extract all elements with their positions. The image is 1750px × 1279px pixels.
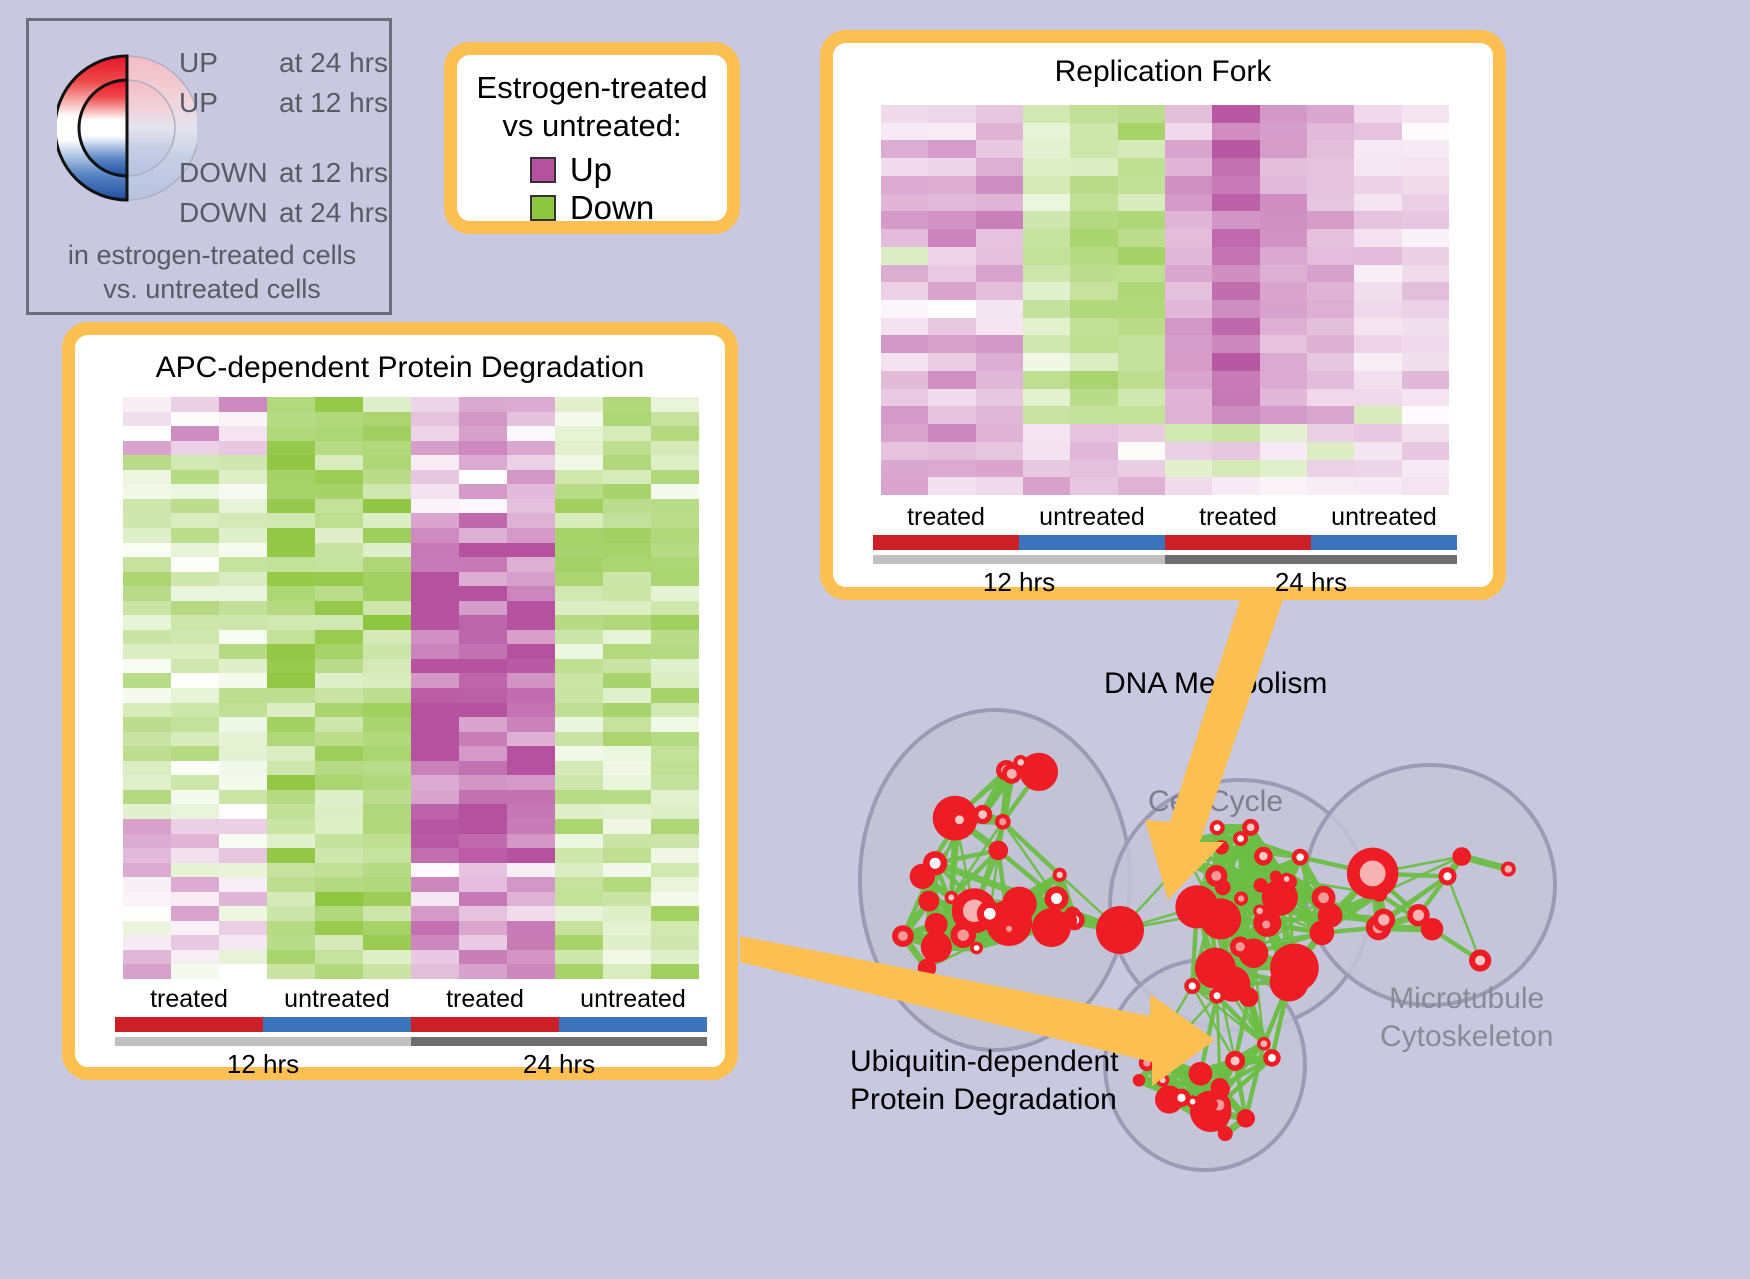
network-node[interactable] bbox=[1214, 840, 1228, 854]
panel-title-replication-fork: Replication Fork bbox=[833, 43, 1493, 89]
network-node-core bbox=[1007, 769, 1017, 779]
network-node-core bbox=[1211, 871, 1221, 881]
timepoint-label: 12 hrs bbox=[115, 1049, 411, 1080]
condition-labels: treateduntreatedtreateduntreated bbox=[115, 985, 707, 1014]
network-node-core bbox=[1213, 992, 1220, 999]
network-node[interactable] bbox=[1205, 906, 1219, 920]
network-node[interactable] bbox=[1253, 878, 1267, 892]
legend-title-line-2: vs untreated: bbox=[457, 107, 727, 145]
network-node[interactable] bbox=[1205, 1098, 1218, 1111]
label-line-2: Protein Degradation bbox=[850, 1081, 1119, 1119]
network-node-core bbox=[978, 810, 987, 819]
cluster-label-ubiquitin-degradation: Ubiquitin-dependent Protein Degradation bbox=[850, 1043, 1119, 1118]
timepoint-label: 24 hrs bbox=[1165, 567, 1457, 598]
label-line-2: Cytoskeleton bbox=[1380, 1018, 1553, 1056]
timepoint-bar bbox=[115, 1037, 411, 1046]
network-node-core bbox=[1179, 855, 1189, 865]
condition-color-bars bbox=[115, 1017, 707, 1032]
time-label: at 24 hrs bbox=[279, 197, 388, 229]
network-node[interactable] bbox=[1059, 911, 1077, 929]
network-node-core bbox=[957, 929, 968, 940]
network-node-core bbox=[1051, 893, 1062, 904]
network-node[interactable] bbox=[925, 913, 948, 936]
condition-bar bbox=[263, 1017, 411, 1032]
network-node[interactable] bbox=[1133, 1074, 1146, 1087]
network-node-core bbox=[1247, 824, 1255, 832]
network-node-core bbox=[984, 908, 996, 920]
condition-label: untreated bbox=[559, 985, 707, 1014]
network-node-core bbox=[1378, 914, 1389, 925]
network-node[interactable] bbox=[918, 959, 937, 978]
condition-label: untreated bbox=[263, 985, 411, 1014]
network-node[interactable] bbox=[1218, 1126, 1233, 1141]
network-node[interactable] bbox=[1211, 1080, 1230, 1099]
colorwheel-legend-box: UP at 24 hrs UP at 12 hrs DOWN at 12 hrs… bbox=[26, 18, 392, 315]
timepoint-labels: 12 hrs24 hrs bbox=[115, 1049, 707, 1080]
direction-label: DOWN bbox=[179, 197, 279, 229]
caption-line-2: vs. untreated cells bbox=[29, 273, 395, 307]
time-label: at 12 hrs bbox=[279, 157, 388, 189]
up-label: Up bbox=[570, 151, 612, 189]
network-node[interactable] bbox=[1150, 1049, 1169, 1068]
label-line-1: Ubiquitin-dependent bbox=[850, 1043, 1119, 1081]
panel-title-apc: APC-dependent Protein Degradation bbox=[75, 335, 725, 385]
network-node-core bbox=[948, 895, 954, 901]
network-node[interactable] bbox=[1270, 944, 1319, 993]
condition-label: treated bbox=[1165, 503, 1311, 532]
network-node-core bbox=[1296, 853, 1304, 861]
legend-title-line-1: Estrogen-treated bbox=[457, 69, 727, 107]
condition-label: treated bbox=[115, 985, 263, 1014]
network-node-core bbox=[1238, 895, 1244, 901]
colorwheel-row: UP at 24 hrs bbox=[179, 43, 394, 83]
cluster-label-microtubule-cytoskeleton: Microtubule Cytoskeleton bbox=[1380, 980, 1553, 1055]
condition-bar bbox=[873, 535, 1019, 550]
network-node-core bbox=[1189, 982, 1196, 989]
protein-interaction-network bbox=[790, 620, 1750, 1279]
network-node-core bbox=[1256, 908, 1262, 914]
network-node-core bbox=[1318, 892, 1329, 903]
network-node-core bbox=[1259, 852, 1267, 860]
expression-legend-card: Estrogen-treated vs untreated: Up Down bbox=[444, 42, 740, 234]
apc-degradation-panel: APC-dependent Protein Degradation treate… bbox=[62, 322, 738, 1080]
timepoint-bar bbox=[411, 1037, 707, 1046]
timepoint-label: 24 hrs bbox=[411, 1049, 707, 1080]
network-node-core bbox=[1413, 910, 1424, 921]
network-node-core bbox=[1160, 1077, 1166, 1083]
network-node[interactable] bbox=[1270, 871, 1282, 883]
direction-label: UP bbox=[179, 47, 279, 79]
condition-color-bars bbox=[873, 535, 1457, 550]
legend-item-up: Up bbox=[530, 151, 654, 189]
heatmap-apc-degradation bbox=[123, 397, 699, 979]
legend-item-down: Down bbox=[530, 189, 654, 227]
network-node[interactable] bbox=[1237, 1109, 1255, 1127]
colorwheel-graphic bbox=[57, 43, 197, 215]
network-node[interactable] bbox=[1096, 906, 1144, 954]
timepoint-color-bars bbox=[115, 1037, 707, 1046]
network-node-core bbox=[1214, 824, 1221, 831]
spacer bbox=[179, 123, 394, 153]
network-node-core bbox=[974, 945, 980, 951]
timepoint-bar bbox=[873, 555, 1165, 564]
cluster-label-cell-cycle: Cell Cycle bbox=[1148, 785, 1283, 819]
network-node[interactable] bbox=[1372, 886, 1387, 901]
colorwheel-row: UP at 12 hrs bbox=[179, 83, 394, 123]
network-node-core bbox=[1006, 926, 1012, 932]
network-node[interactable] bbox=[910, 864, 935, 889]
condition-label: treated bbox=[873, 503, 1019, 532]
condition-bar bbox=[115, 1017, 263, 1032]
condition-bar bbox=[559, 1017, 707, 1032]
network-node-core bbox=[1360, 861, 1386, 887]
network-node[interactable] bbox=[921, 931, 952, 962]
condition-bar bbox=[1165, 535, 1311, 550]
network-node-core bbox=[1475, 955, 1485, 965]
network-node[interactable] bbox=[1309, 920, 1334, 945]
network-node[interactable] bbox=[1421, 918, 1443, 940]
timepoint-bar bbox=[1165, 555, 1457, 564]
condition-bar bbox=[1311, 535, 1457, 550]
network-node-core bbox=[1017, 759, 1024, 766]
network-node-core bbox=[1177, 1094, 1185, 1102]
network-node-core bbox=[1143, 1059, 1150, 1066]
network-node-core bbox=[1237, 835, 1244, 842]
network-node-core bbox=[898, 931, 908, 941]
direction-label: UP bbox=[179, 87, 279, 119]
colorwheel-row: DOWN at 12 hrs bbox=[179, 153, 394, 193]
network-node-core bbox=[955, 815, 964, 824]
network-node-core bbox=[1262, 921, 1270, 929]
network-node-core bbox=[1260, 1040, 1267, 1047]
colorwheel-legend-rows: UP at 24 hrs UP at 12 hrs DOWN at 12 hrs… bbox=[179, 43, 394, 233]
condition-label: untreated bbox=[1311, 503, 1457, 532]
up-color-swatch bbox=[530, 157, 556, 183]
down-label: Down bbox=[570, 189, 654, 227]
condition-label: untreated bbox=[1019, 503, 1165, 532]
cluster-label-dna-metabolism: DNA Metabolism bbox=[1104, 667, 1327, 701]
network-node[interactable] bbox=[918, 891, 939, 912]
down-color-swatch bbox=[530, 195, 556, 221]
axis-apc-degradation: treateduntreatedtreateduntreated 12 hrs2… bbox=[115, 985, 707, 1080]
network-node-core bbox=[1175, 840, 1181, 846]
network-node-core bbox=[999, 818, 1006, 825]
network-node[interactable] bbox=[1452, 847, 1471, 866]
network-node-core bbox=[930, 858, 941, 869]
timepoint-label: 12 hrs bbox=[873, 567, 1165, 598]
cluster-halo-microtubule bbox=[1305, 765, 1555, 1005]
network-node-core bbox=[1236, 942, 1245, 951]
time-label: at 24 hrs bbox=[279, 47, 388, 79]
axis-replication-fork: treateduntreatedtreateduntreated 12 hrs2… bbox=[873, 503, 1457, 598]
network-node[interactable] bbox=[1189, 1062, 1213, 1086]
network-node[interactable] bbox=[1239, 988, 1258, 1007]
condition-labels: treateduntreatedtreateduntreated bbox=[873, 503, 1457, 532]
colorwheel-caption: in estrogen-treated cells vs. untreated … bbox=[29, 239, 395, 307]
colorwheel-row: DOWN at 24 hrs bbox=[179, 193, 394, 233]
network-node-core bbox=[1284, 876, 1290, 882]
time-label: at 12 hrs bbox=[279, 87, 388, 119]
network-node-core bbox=[1057, 872, 1063, 878]
condition-label: treated bbox=[411, 985, 559, 1014]
network-node-core bbox=[1443, 872, 1451, 880]
timepoint-color-bars bbox=[873, 555, 1457, 564]
network-node[interactable] bbox=[1215, 880, 1231, 896]
timepoint-labels: 12 hrs24 hrs bbox=[873, 567, 1457, 598]
label-line-1: Microtubule bbox=[1380, 980, 1553, 1018]
direction-label: DOWN bbox=[179, 157, 279, 189]
condition-bar bbox=[411, 1017, 559, 1032]
heatmap-replication-fork bbox=[881, 105, 1449, 495]
network-node-core bbox=[1268, 1054, 1276, 1062]
caption-line-1: in estrogen-treated cells bbox=[29, 239, 395, 273]
network-node-core bbox=[1505, 865, 1513, 873]
replication-fork-panel: Replication Fork treateduntreatedtreated… bbox=[820, 30, 1506, 600]
network-node-core bbox=[1190, 1099, 1196, 1105]
network-node-core bbox=[1231, 1056, 1240, 1065]
network-node[interactable] bbox=[988, 841, 1008, 861]
condition-bar bbox=[1019, 535, 1165, 550]
